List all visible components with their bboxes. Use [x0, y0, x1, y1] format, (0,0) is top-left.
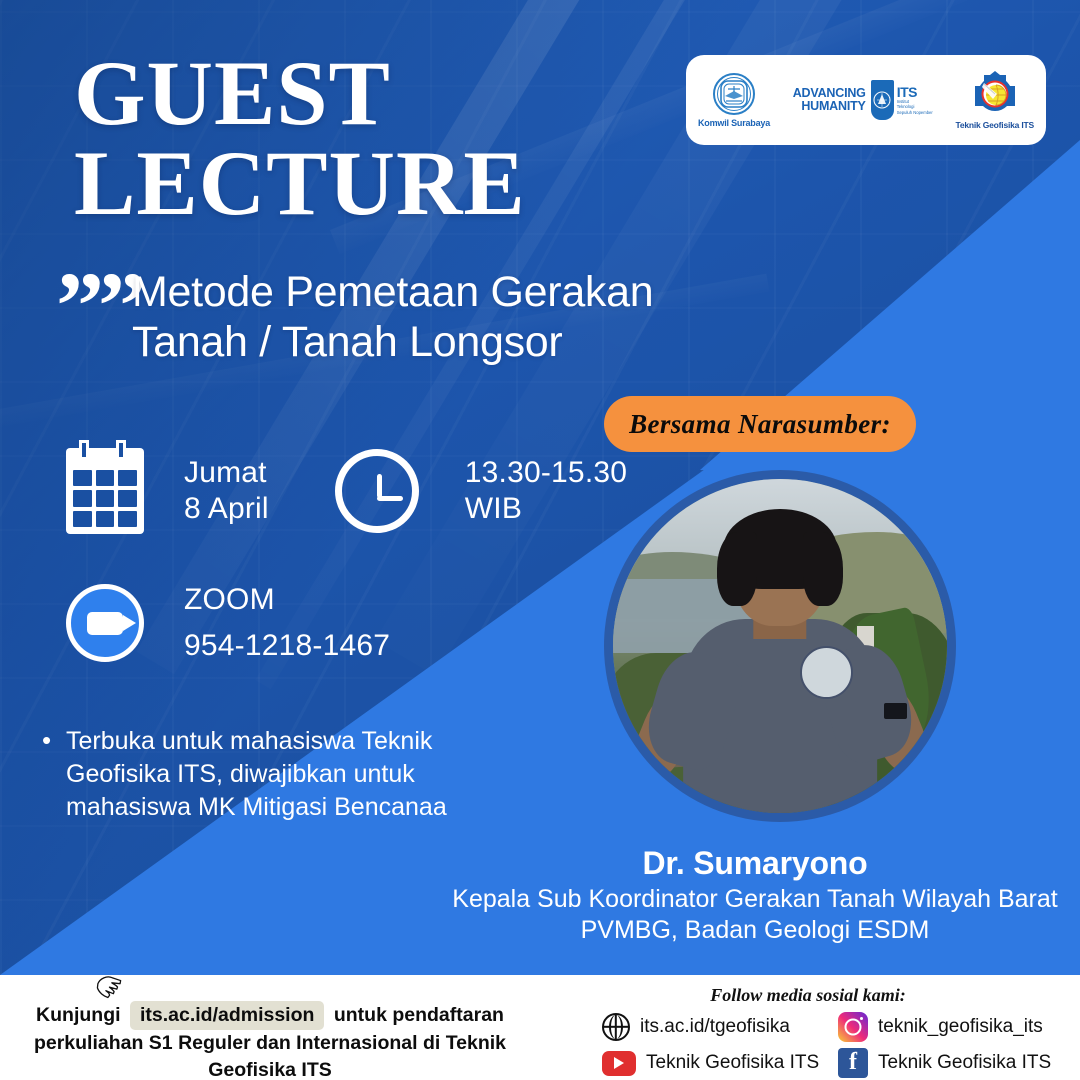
social-handle-website: its.ac.id/tgeofisika — [640, 1016, 790, 1038]
event-time-zone: WIB — [465, 491, 627, 527]
footer-social: Follow media sosial kami: its.ac.id/tgeo… — [540, 975, 1080, 1080]
speaker-badge-label: Bersama Narasumber: — [629, 409, 891, 440]
social-link-youtube[interactable]: Teknik Geofisika ITS — [602, 1048, 830, 1078]
social-links-grid: its.ac.id/tgeofisika teknik_geofisika_it… — [550, 1012, 1066, 1078]
its-wordmark: ITS Institut Teknologi Sepuluh Nopember — [897, 85, 933, 115]
teknik-geofisika-gear-globe-icon — [971, 70, 1019, 118]
speaker-role-line-2: PVMBG, Badan Geologi ESDM — [440, 915, 1070, 946]
platform-name: ZOOM — [184, 582, 390, 618]
footer: Kunjungi its.ac.id/admission untuk penda… — [0, 975, 1080, 1080]
facebook-icon: f — [838, 1048, 868, 1078]
globe-icon — [602, 1013, 630, 1041]
event-time-label: 13.30-15.30 WIB — [465, 455, 627, 527]
its-logo-block: ITS Institut Teknologi Sepuluh Nopember — [871, 80, 933, 120]
clock-icon — [335, 449, 419, 533]
speaker-photo-frame — [604, 470, 956, 822]
poster-title: GUEST LECTURE — [74, 48, 526, 228]
footer-cta-line-1: Kunjungi its.ac.id/admission untuk penda… — [18, 1001, 522, 1030]
advancing-humanity-block: ADVANCING HUMANITY ITS Institut Teknolog… — [793, 80, 933, 120]
zoom-icon — [66, 584, 144, 662]
event-note-item: Terbuka untuk mahasiswa Teknik Geofisika… — [40, 725, 530, 824]
event-platform-row: ZOOM 954-1218-1467 — [66, 582, 627, 664]
poster-root: Komwil Surabaya ADVANCING HUMANITY ITS I… — [0, 0, 1080, 1080]
quote-mark-icon: ”” — [56, 258, 140, 354]
event-info-group: Jumat 8 April 13.30-15.30 WIB ZOOM 954-1… — [66, 448, 627, 664]
event-notes: Terbuka untuk mahasiswa Teknik Geofisika… — [40, 725, 530, 824]
speaker-role-line-1: Kepala Sub Koordinator Gerakan Tanah Wil… — [440, 884, 1070, 915]
youtube-icon — [602, 1051, 636, 1076]
footer-cta: Kunjungi its.ac.id/admission untuk penda… — [0, 975, 540, 1080]
pointing-hand-icon — [94, 971, 129, 1011]
speaker-name: Dr. Sumaryono — [440, 845, 1070, 882]
title-line-1: GUEST — [74, 42, 391, 144]
footer-cta-post: untuk pendaftaran — [334, 1004, 504, 1026]
instagram-icon — [838, 1012, 868, 1042]
social-handle-youtube: Teknik Geofisika ITS — [646, 1052, 819, 1074]
social-handle-facebook: Teknik Geofisika ITS — [878, 1052, 1051, 1074]
komwil-logo-block: Komwil Surabaya — [698, 72, 770, 128]
speaker-role: Kepala Sub Koordinator Gerakan Tanah Wil… — [440, 884, 1070, 947]
pointing-hand-glyph — [94, 971, 128, 1003]
logo-bar: Komwil Surabaya ADVANCING HUMANITY ITS I… — [686, 55, 1046, 145]
event-date: 8 April — [184, 491, 269, 527]
teknik-geofisika-logo-caption: Teknik Geofisika ITS — [955, 120, 1034, 130]
title-line-2: LECTURE — [74, 138, 526, 228]
footer-cta-url[interactable]: its.ac.id/admission — [130, 1001, 324, 1030]
social-link-instagram[interactable]: teknik_geofisika_its — [838, 1012, 1066, 1042]
event-platform-label: ZOOM 954-1218-1467 — [184, 582, 390, 664]
footer-cta-line-3: Geofisika ITS — [18, 1057, 522, 1080]
event-time-range: 13.30-15.30 — [465, 455, 627, 491]
footer-follow-heading: Follow media sosial kami: — [550, 985, 1066, 1006]
social-handle-instagram: teknik_geofisika_its — [878, 1016, 1043, 1038]
speaker-photo — [613, 479, 947, 813]
its-shield-icon — [871, 80, 894, 120]
calendar-icon — [66, 448, 144, 534]
teknik-geofisika-logo-block: Teknik Geofisika ITS — [955, 70, 1034, 130]
event-date-label: Jumat 8 April — [184, 455, 269, 527]
footer-cta-line-2: perkuliahan S1 Reguler dan Internasional… — [18, 1030, 522, 1057]
social-link-facebook[interactable]: f Teknik Geofisika ITS — [838, 1048, 1066, 1078]
komwil-logo-caption: Komwil Surabaya — [698, 118, 770, 128]
speaker-badge: Bersama Narasumber: — [604, 396, 916, 452]
its-emblem-icon — [873, 89, 891, 111]
event-day: Jumat — [184, 455, 269, 491]
komwil-surabaya-logo-icon — [712, 72, 756, 116]
advancing-humanity-text: ADVANCING HUMANITY — [793, 87, 866, 113]
event-datetime-row: Jumat 8 April 13.30-15.30 WIB — [66, 448, 627, 534]
meeting-id: 954-1218-1467 — [184, 628, 390, 664]
social-link-website[interactable]: its.ac.id/tgeofisika — [602, 1012, 830, 1042]
poster-subtitle: Metode Pemetaan Gerakan Tanah / Tanah Lo… — [132, 268, 732, 368]
